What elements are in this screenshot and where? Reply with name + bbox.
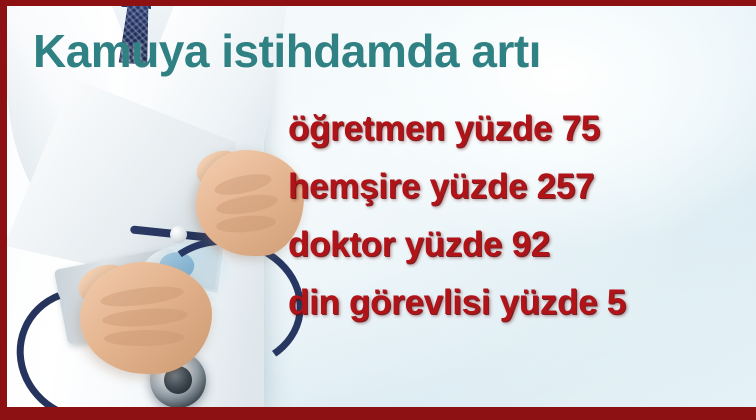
stethoscope-eartip-left [170,226,187,243]
statistic-item-doktor: doktor yüzde 92 [288,216,626,274]
frame-border-bottom [0,407,756,420]
frame-border-top [0,0,756,6]
frame-border-left [0,0,7,420]
statistic-item-hemsire: hemşire yüzde 257 [288,158,626,216]
statistic-item-din-gorevlisi: din görevlisi yüzde 5 [288,274,626,332]
headline: Kamuya istihdamda artı [33,28,541,74]
statistic-item-ogretmen: öğretmen yüzde 75 [288,100,626,158]
news-graphic: Kamuya istihdamda artı öğretmen yüzde 75… [0,0,756,420]
statistics-list: öğretmen yüzde 75 hemşire yüzde 257 dokt… [288,100,626,332]
